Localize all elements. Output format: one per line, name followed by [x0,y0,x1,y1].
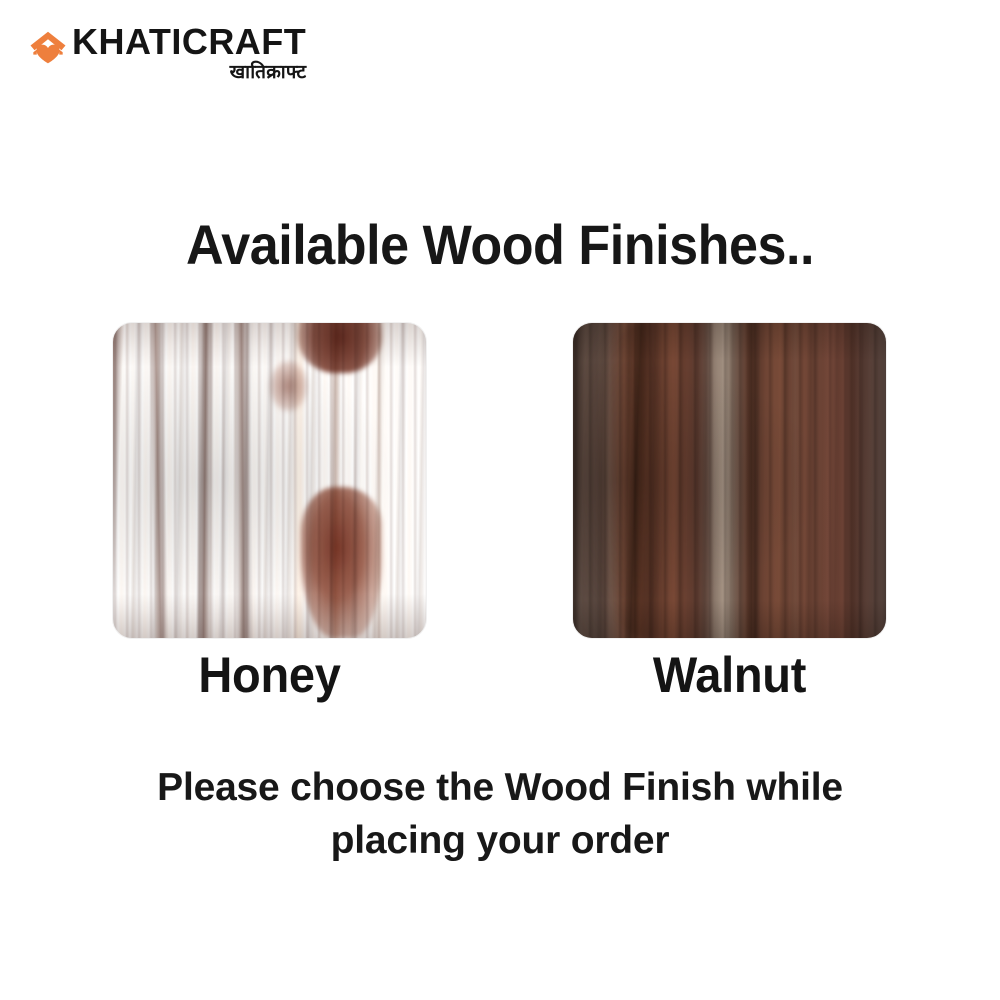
instruction-line-1: Please choose the Wood Finish while [157,766,843,809]
instruction-note: Please choose the Wood Finish while plac… [140,762,860,867]
walnut-wood-shading [573,323,886,638]
home-heart-icon [28,28,68,68]
brand-name: KHATICRAFT [72,24,306,61]
wood-finish-options: Honey Walnut [0,323,1000,693]
brand-logo: KHATICRAFT खातिक्राफ्ट [28,24,306,84]
brand-subtitle: खातिक्राफ्ट [230,62,307,84]
wood-finish-option-honey[interactable]: Honey [113,323,426,704]
honey-wood-shading [113,323,426,638]
honey-label: Honey [122,646,416,704]
brand-wordmark: KHATICRAFT खातिक्राफ्ट [72,24,306,84]
page-title: Available Wood Finishes.. [35,212,965,277]
wood-finishes-poster: KHATICRAFT खातिक्राफ्ट Available Wood Fi… [0,0,1000,1000]
honey-swatch-image[interactable] [113,323,426,638]
instruction-line-2: placing your order [140,815,860,868]
walnut-label: Walnut [582,646,876,704]
walnut-swatch-image[interactable] [573,323,886,638]
wood-finish-option-walnut[interactable]: Walnut [573,323,886,704]
